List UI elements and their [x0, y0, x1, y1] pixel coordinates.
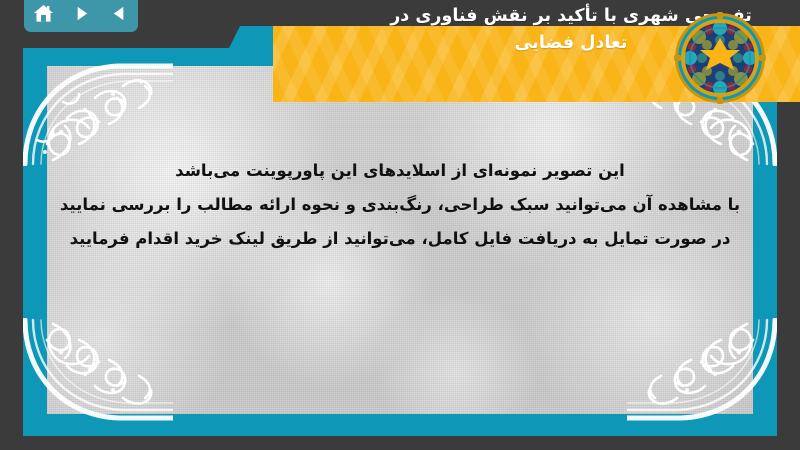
body-line-1: این تصویر نمونه‌ای از اسلایدهای این پاور… — [47, 154, 753, 188]
page-edge-right — [777, 102, 800, 450]
title-line-1: کامل برنامه‌ریزی کاربری اراضی فرهنگی و — [356, 0, 786, 3]
persian-medallion-icon — [674, 12, 766, 104]
home-button[interactable] — [29, 0, 57, 26]
previous-slide-button[interactable] — [105, 0, 133, 26]
slide-canvas: این تصویر نمونه‌ای از اسلایدهای این پاور… — [47, 66, 753, 414]
page-edge-bottom — [0, 436, 800, 450]
body-line-3: در صورت تمایل به دریافت فایل کامل، می‌تو… — [47, 222, 753, 256]
triangle-right-icon — [72, 4, 91, 23]
slide-navigation — [24, 0, 138, 32]
slide-preview-stage: این تصویر نمونه‌ای از اسلایدهای این پاور… — [0, 0, 800, 450]
slide-frame: این تصویر نمونه‌ای از اسلایدهای این پاور… — [23, 48, 777, 436]
slide-body-text: این تصویر نمونه‌ای از اسلایدهای این پاور… — [47, 154, 753, 256]
triangle-left-icon — [110, 4, 129, 23]
body-line-2: با مشاهده آن می‌توانید سبک طراحی، رنگ‌بن… — [47, 188, 753, 222]
home-icon — [33, 4, 54, 23]
page-edge-left — [0, 0, 23, 450]
next-slide-button[interactable] — [67, 0, 95, 26]
